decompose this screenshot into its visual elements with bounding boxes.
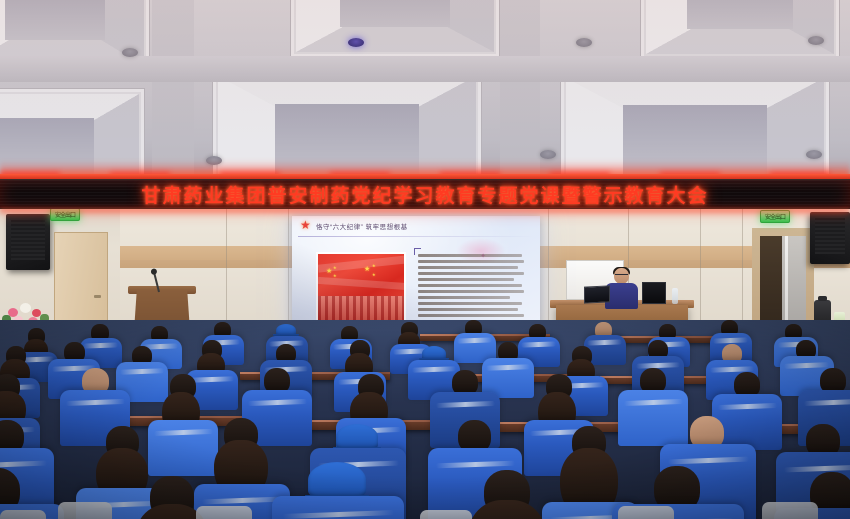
- red-star-icon: ★: [300, 219, 313, 232]
- cap-icon: [422, 346, 446, 361]
- chair-back: [196, 506, 252, 519]
- chair-back: [58, 502, 112, 519]
- slide-flag-image: ★ ★ ★ ★ ★ ★: [316, 252, 406, 322]
- loudspeaker-icon: [810, 212, 850, 264]
- ceiling-downlight: [576, 38, 592, 47]
- chair-back: [762, 502, 818, 519]
- chair-back: [0, 510, 46, 519]
- led-banner-text: 甘肃药业集团普安制药党纪学习教育专题党课暨警示教育大会: [141, 181, 708, 208]
- slide-title: 恪守“六大纪律” 筑牢思想根基: [316, 221, 408, 231]
- led-display-panel: 甘肃药业集团普安制药党纪学习教育专题党课暨警示教育大会: [0, 179, 850, 209]
- laptop-icon: [584, 286, 612, 306]
- ceiling-downlight: [348, 38, 364, 47]
- monitor-icon: [642, 282, 666, 304]
- slide-body-text: [414, 252, 528, 324]
- conference-hall-photo: 安全出口 安全出口 ★ 恪守“六大纪律” 筑牢思想根基 ✦ ★ ★ ★ ★: [0, 0, 850, 519]
- water-bottle-icon: [672, 288, 678, 304]
- ceiling-downlight: [806, 150, 822, 159]
- ceiling-downlight: [808, 36, 824, 45]
- glasses-icon: [615, 274, 628, 277]
- audience-seating: [0, 320, 850, 519]
- cap-icon: [308, 462, 366, 498]
- slide-divider: [298, 236, 534, 237]
- ceiling-downlight: [540, 150, 556, 159]
- loudspeaker-icon: [6, 214, 50, 270]
- ceiling-downlight: [206, 156, 222, 165]
- led-banner: 甘肃药业集团普安制药党纪学习教育专题党课暨警示教育大会: [0, 174, 850, 212]
- cap-icon: [336, 424, 378, 450]
- chair-back: [618, 506, 674, 519]
- ceiling-downlight: [122, 48, 138, 57]
- projection-screen: ★ 恪守“六大纪律” 筑牢思想根基 ✦ ★ ★ ★ ★ ★ ★: [292, 216, 540, 334]
- coffered-ceiling: [0, 0, 850, 186]
- chair-back: [420, 510, 472, 519]
